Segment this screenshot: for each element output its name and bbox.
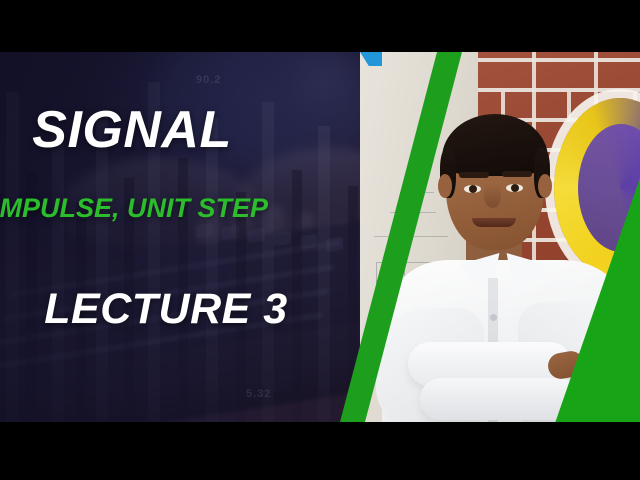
lecture-label: LECTURE 3: [0, 285, 356, 334]
nose: [484, 184, 501, 208]
pupil: [511, 184, 519, 192]
ear-right: [538, 174, 552, 198]
pupil: [469, 185, 477, 193]
eyebrow-left: [459, 172, 489, 178]
subtitle-topics: IMPULSE, UNIT STEP: [0, 194, 280, 223]
letterbox-bar-bottom: [0, 422, 640, 480]
ear-left: [438, 174, 452, 198]
main-title: SIGNAL: [0, 100, 322, 160]
title-block: SIGNAL IMPULSE, UNIT STEP LECTURE 3: [0, 52, 380, 422]
plan-line: [400, 192, 434, 193]
plan-line: [374, 236, 448, 237]
shirt-button: [490, 314, 497, 321]
video-thumbnail: 90.2 5.32: [0, 0, 640, 480]
folded-forearm-lower: [420, 378, 580, 420]
eye-right: [506, 184, 523, 192]
eyebrow-right: [502, 171, 532, 177]
plan-line: [390, 212, 436, 213]
presenter-photo: [360, 52, 640, 422]
eye-left: [464, 185, 481, 193]
video-frame: 90.2 5.32: [0, 52, 640, 422]
mouth: [472, 218, 516, 227]
letterbox-bar-top: [0, 0, 640, 52]
